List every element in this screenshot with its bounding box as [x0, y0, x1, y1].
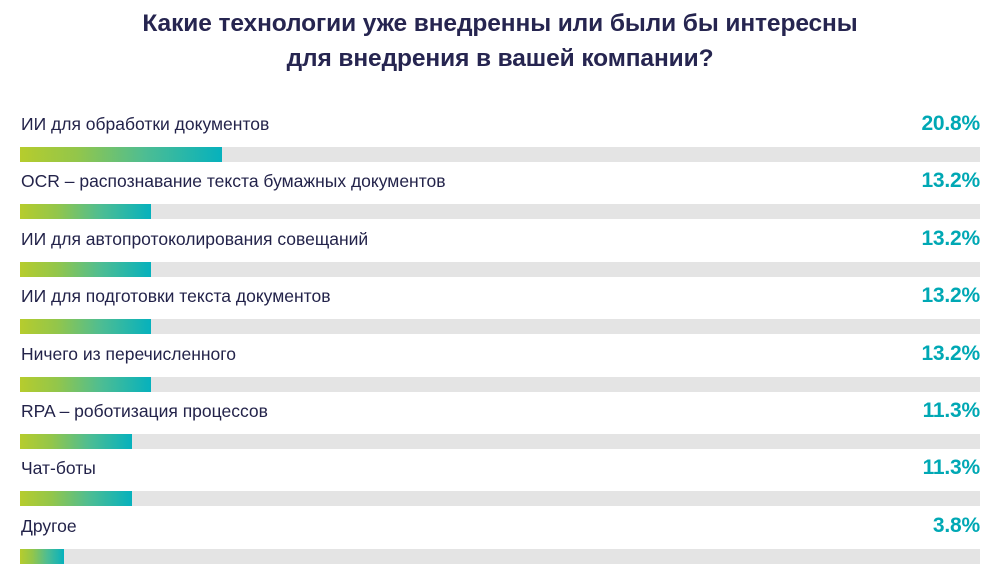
- bar-row-label: Другое: [21, 514, 77, 538]
- bar-track: [20, 204, 980, 219]
- bar-row: Чат-боты 11.3%: [0, 456, 1000, 513]
- bar-track: [20, 491, 980, 506]
- bar-row-label: ИИ для подготовки текста документов: [21, 284, 331, 308]
- bar-track: [20, 147, 980, 162]
- bar-fill: [20, 204, 151, 219]
- bar-fill: [20, 491, 132, 506]
- bar-row-header: ИИ для автопротоколирования совещаний 13…: [21, 227, 980, 254]
- bar-row-value: 11.3%: [923, 399, 980, 422]
- bar-row-value: 11.3%: [923, 456, 980, 479]
- bar-row: ИИ для подготовки текста документов 13.2…: [0, 284, 1000, 341]
- bar-fill: [20, 262, 151, 277]
- bar-row: RPA – роботизация процессов 11.3%: [0, 399, 1000, 456]
- bar-row: OCR – распознавание текста бумажных доку…: [0, 169, 1000, 226]
- bar-row-header: ИИ для подготовки текста документов 13.2…: [21, 284, 980, 311]
- bar-row-label: ИИ для обработки документов: [21, 112, 269, 136]
- bar-fill: [20, 147, 222, 162]
- bar-track: [20, 319, 980, 334]
- bar-fill: [20, 319, 151, 334]
- bar-chart: Какие технологии уже внедренны или были …: [0, 0, 1000, 586]
- bar-row-value: 20.8%: [921, 112, 980, 135]
- bar-track: [20, 549, 980, 564]
- chart-title: Какие технологии уже внедренны или были …: [120, 6, 880, 76]
- bar-row-value: 13.2%: [921, 169, 980, 192]
- bar-fill: [20, 434, 132, 449]
- bar-row-label: ИИ для автопротоколирования совещаний: [21, 227, 368, 251]
- bar-row-value: 13.2%: [921, 227, 980, 250]
- bar-track: [20, 434, 980, 449]
- bar-row-value: 13.2%: [921, 342, 980, 365]
- bar-row-label: RPA – роботизация процессов: [21, 399, 268, 423]
- bar-fill: [20, 377, 151, 392]
- bar-row-label: OCR – распознавание текста бумажных доку…: [21, 169, 446, 193]
- bar-row-header: OCR – распознавание текста бумажных доку…: [21, 169, 980, 196]
- bar-row-header: Другое 3.8%: [21, 514, 980, 541]
- bar-row: Другое 3.8%: [0, 514, 1000, 571]
- bar-track: [20, 262, 980, 277]
- bar-row-header: Чат-боты 11.3%: [21, 456, 980, 483]
- bar-row-label: Ничего из перечисленного: [21, 342, 236, 366]
- bar-row: ИИ для обработки документов 20.8%: [0, 112, 1000, 169]
- bar-row-value: 13.2%: [921, 284, 980, 307]
- bar-fill: [20, 549, 64, 564]
- bar-row-header: ИИ для обработки документов 20.8%: [21, 112, 980, 139]
- bar-row-value: 3.8%: [933, 514, 980, 537]
- bar-row-label: Чат-боты: [21, 456, 96, 480]
- bar-rows-container: ИИ для обработки документов 20.8% OCR – …: [0, 112, 1000, 571]
- bar-row: Ничего из перечисленного 13.2%: [0, 342, 1000, 399]
- bar-row-header: RPA – роботизация процессов 11.3%: [21, 399, 980, 426]
- bar-row: ИИ для автопротоколирования совещаний 13…: [0, 227, 1000, 284]
- bar-row-header: Ничего из перечисленного 13.2%: [21, 342, 980, 369]
- bar-track: [20, 377, 980, 392]
